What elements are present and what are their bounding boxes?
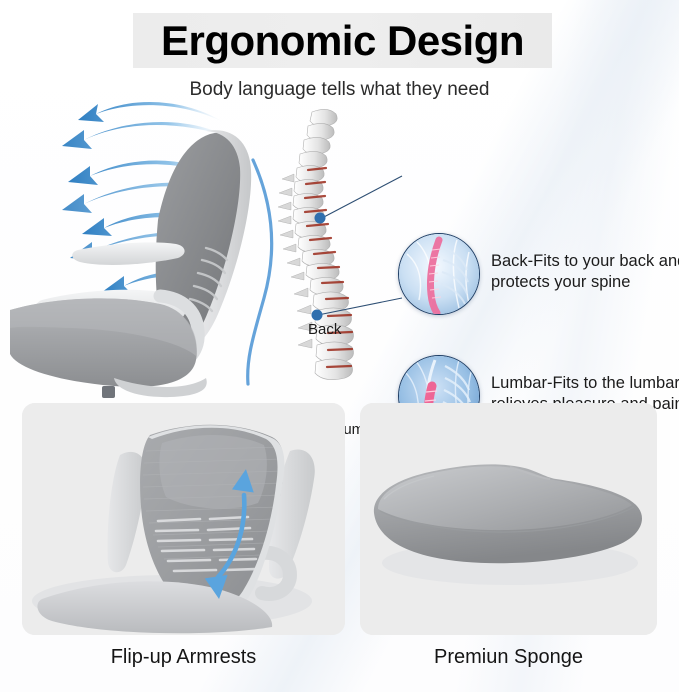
back-label: Back — [308, 321, 341, 338]
back-feature-text: Back-Fits to your back and protects your… — [491, 251, 679, 293]
seat-cushion-image — [360, 403, 657, 635]
caption-premiun-sponge: Premiun Sponge — [360, 646, 657, 669]
spine-illustration — [250, 100, 410, 390]
page-title: Ergonomic Design — [133, 13, 552, 68]
back-anatomy-circle — [398, 233, 480, 315]
caption-flip-up-armrests: Flip-up Armrests — [22, 646, 345, 669]
mesh-chair-back-image — [22, 403, 345, 635]
panel-flip-up-armrests — [22, 403, 345, 635]
infographic-page: Ergonomic Design Body language tells wha… — [0, 0, 679, 692]
hero-section: Back Lumbar — [0, 100, 679, 400]
panel-premiun-sponge — [360, 403, 657, 635]
